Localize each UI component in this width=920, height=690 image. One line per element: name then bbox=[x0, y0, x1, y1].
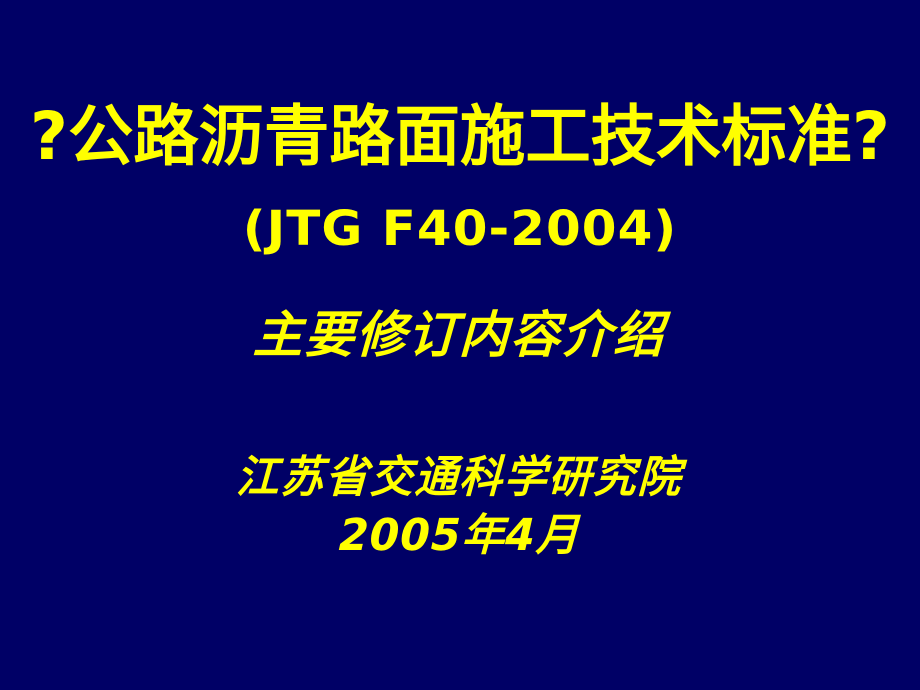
slide-title-standard-name: ?公路沥青路面施工技术标准? bbox=[5, 104, 916, 170]
title-slide: ?公路沥青路面施工技术标准? (JTG F40-2004) 主要修订内容介绍 江… bbox=[0, 0, 920, 690]
slide-subtitle: 主要修订内容介绍 bbox=[3, 310, 916, 360]
slide-organization: 江苏省交通科学研究院 bbox=[12, 456, 906, 500]
slide-title-standard-code: (JTG F40-2004) bbox=[0, 205, 920, 253]
slide-date: 2005年4月 bbox=[12, 514, 906, 558]
